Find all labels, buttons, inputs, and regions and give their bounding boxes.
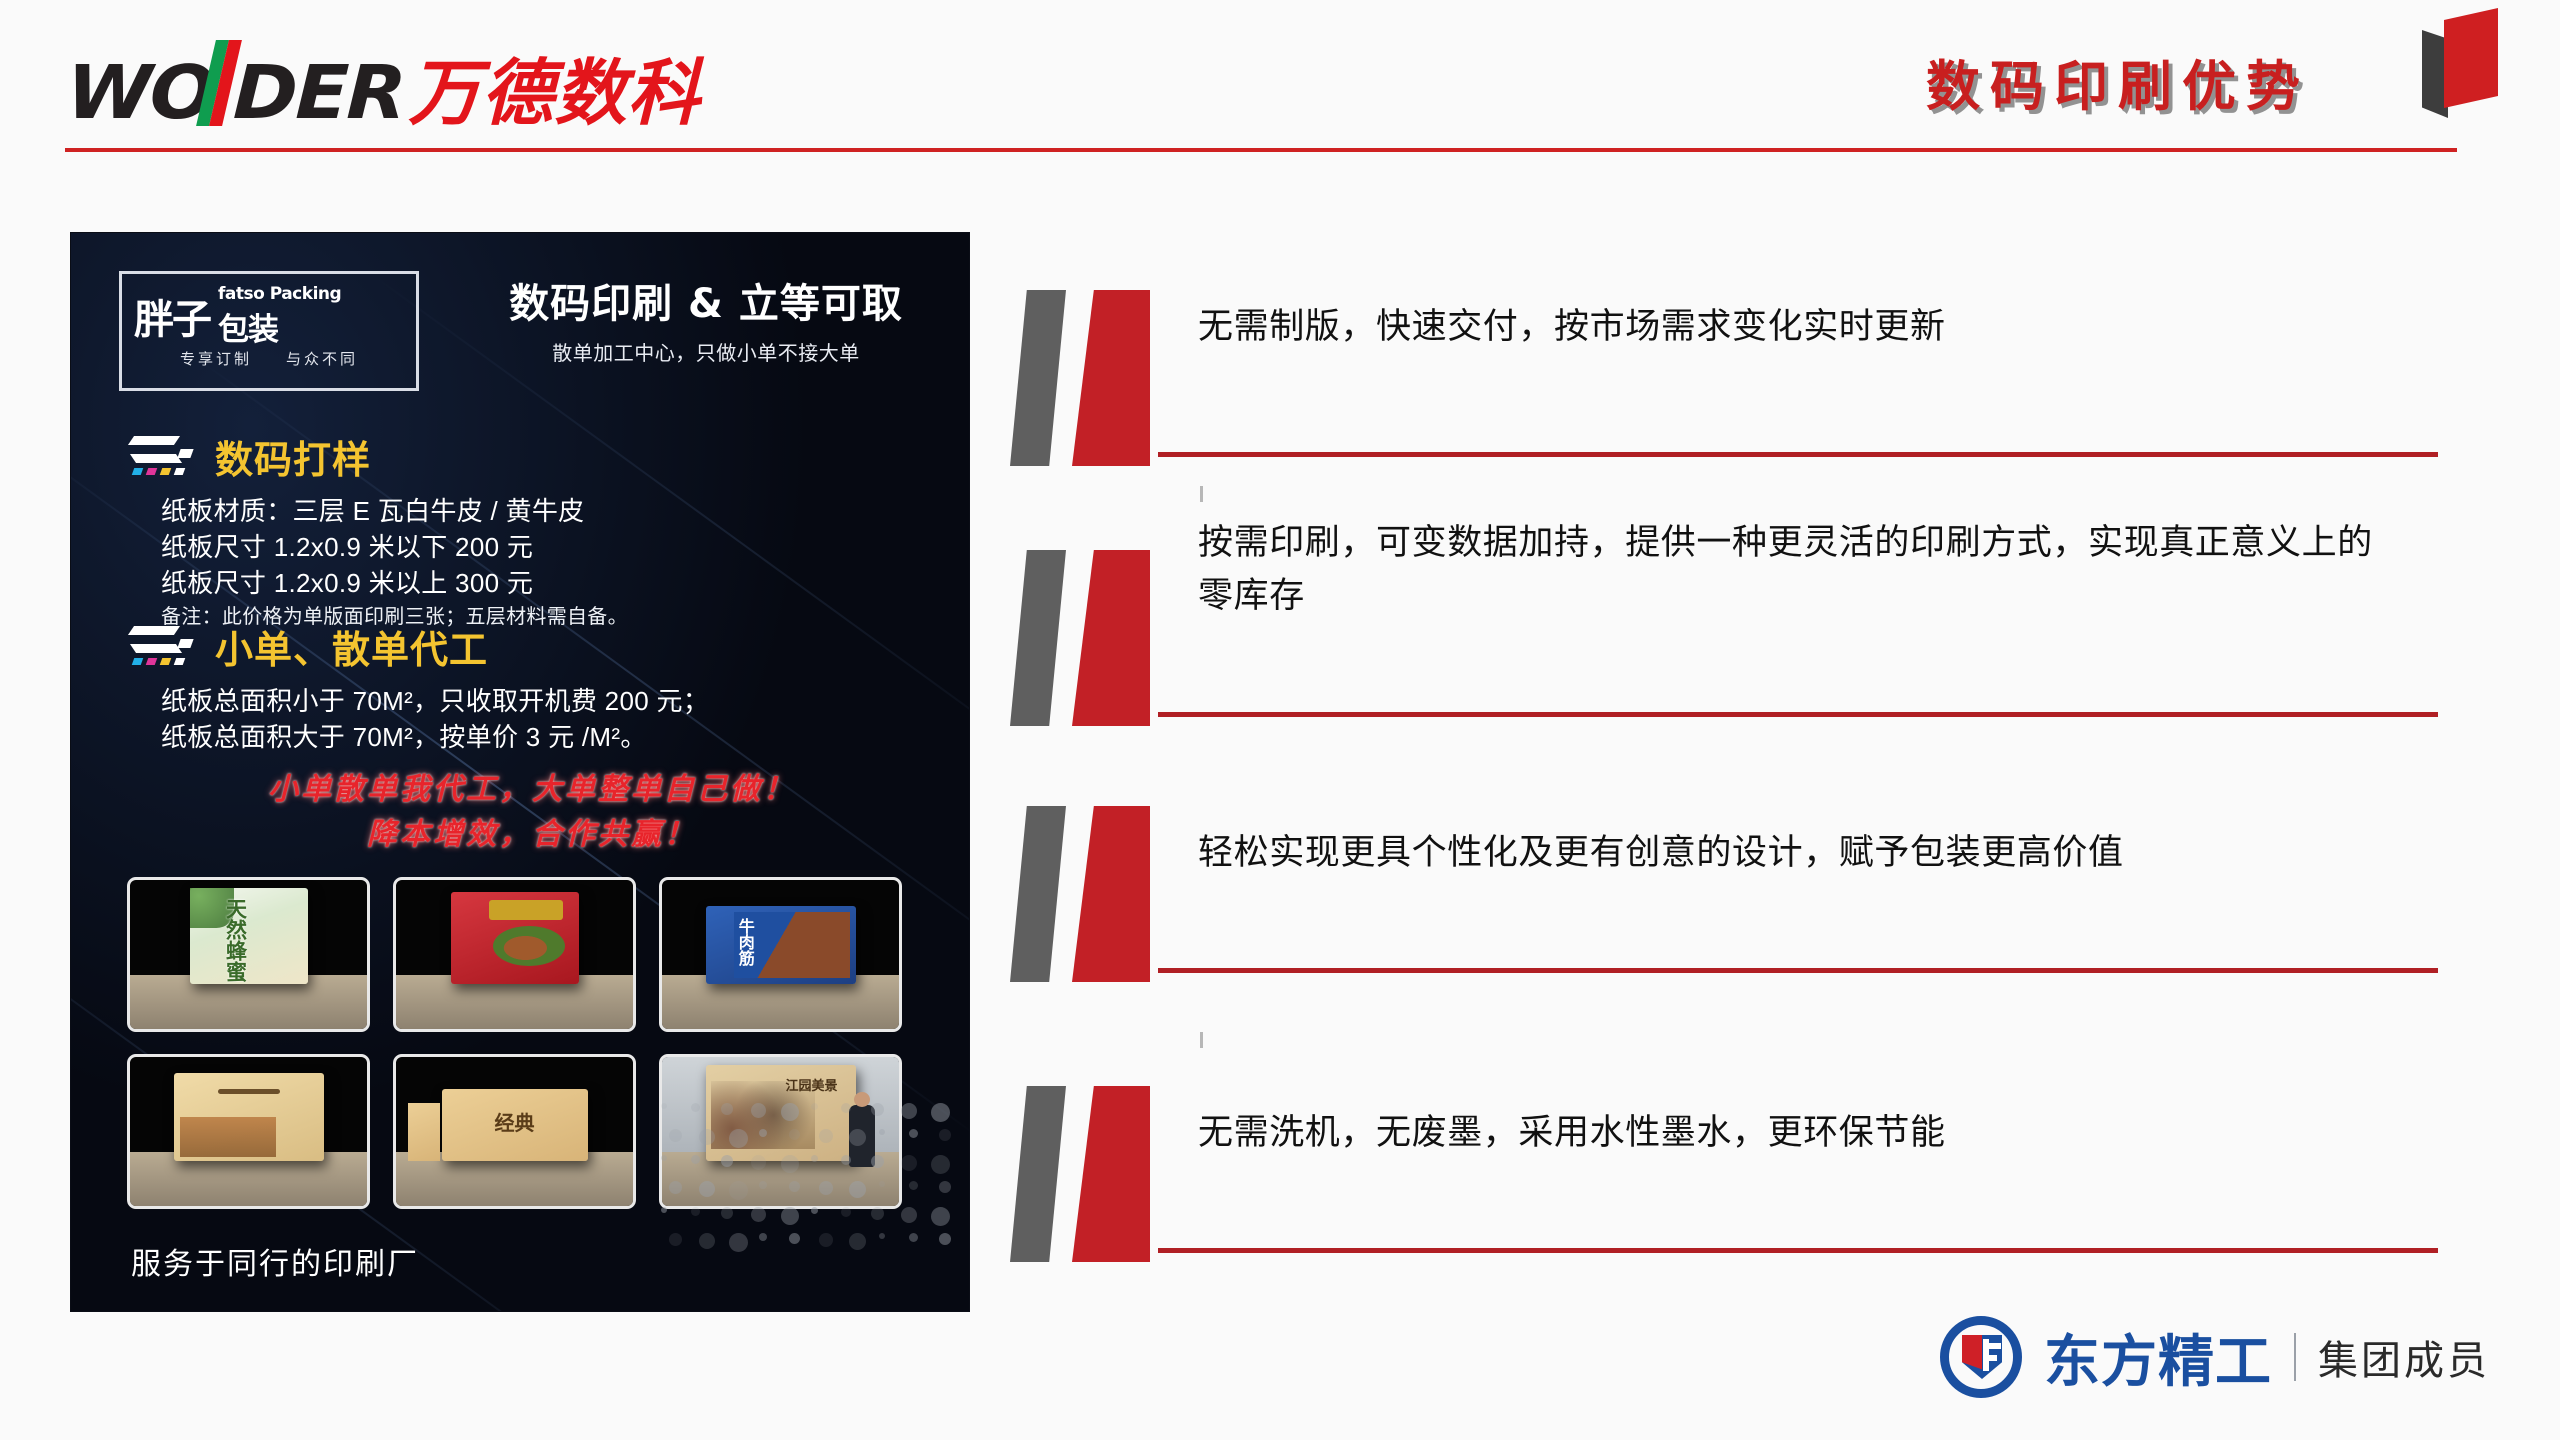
proofing-line-1: 纸板材质：三层 E 瓦白牛皮 / 黄牛皮	[161, 494, 937, 530]
beef-box-label: 牛肉筋	[738, 918, 753, 966]
chevron-arrow-icon	[127, 432, 201, 482]
fatso-logo-english: fatso Packing	[218, 284, 341, 304]
oem-line-1: 纸板总面积小于 70M²，只收取开机费 200 元；	[161, 684, 937, 720]
double-slash-marker-icon	[1010, 290, 1170, 466]
footer-company-name: 东方精工	[2044, 1317, 2272, 1398]
chevron-arrow-icon	[127, 622, 201, 672]
oem-line-2: 纸板总面积大于 70M²，按单价 3 元 /M²。	[161, 720, 937, 756]
poster-footer-text: 服务于同行的印刷厂	[131, 1239, 419, 1283]
slogan-line-2: 降本增效，合作共赢！	[127, 812, 937, 857]
corner-brand-mark-icon	[2422, 8, 2498, 118]
product-photo-red-meat-box	[393, 877, 636, 1032]
advantage-item-1: 无需制版，快速交付，按市场需求变化实时更新	[1010, 270, 2480, 502]
product-photo-blue-beef-box: 牛肉筋	[659, 877, 902, 1032]
page-title: 数码印刷优势	[1926, 42, 2310, 121]
wonder-logo-wordmark-right: DER	[232, 56, 406, 130]
promo-poster-image: 胖子 fatso Packing 包装 专享订制 与众不同 数码印刷 & 立等可…	[70, 232, 970, 1312]
wonder-logo-chinese: 万德数科	[409, 57, 701, 129]
section-title-small-order-oem: 小单、散单代工	[215, 619, 488, 674]
tick-mark	[1200, 486, 1203, 502]
fatso-tagline-left: 专享订制	[180, 348, 252, 369]
poster-headline: 数码印刷 & 立等可取	[491, 271, 921, 329]
wonder-logo: WO DER 万德数科	[65, 40, 701, 130]
classic-box-label: 经典	[495, 1107, 535, 1136]
product-photo-honey-gift-box: 天然蜂蜜	[127, 877, 370, 1032]
slogan-line-1: 小单散单我代工，大单整单自己做！	[127, 767, 937, 812]
product-photo-kraft-building-box	[127, 1054, 370, 1209]
advantage-item-2: 按需印刷，可变数据加持，提供一种更灵活的印刷方式，实现真正意义上的零库存	[1010, 502, 2480, 772]
advantage-text-4: 无需洗机，无废墨，采用水性墨水，更环保节能	[1198, 1106, 2373, 1159]
product-photo-kraft-classic-box: 经典	[393, 1054, 636, 1209]
footer-member-label: 集团成员	[2318, 1328, 2490, 1386]
section-title-digital-proofing: 数码打样	[215, 429, 371, 484]
advantage-text-1: 无需制版，快速交付，按市场需求变化实时更新	[1198, 300, 2373, 353]
double-slash-marker-icon	[1010, 550, 1170, 726]
slide-root: WO DER 万德数科 数码印刷优势 胖子 fatso Packing 包装 专…	[0, 0, 2560, 1440]
fatso-logo-sub: 包装	[218, 304, 341, 349]
fatso-tagline-right: 与众不同	[286, 348, 358, 369]
poster-subheadline: 散单加工中心，只做小单不接大单	[491, 337, 921, 366]
double-slash-marker-icon	[1010, 806, 1170, 982]
advantage-underline-1	[1158, 452, 2438, 457]
mural-box-label: 江园美景	[785, 1075, 837, 1094]
decorative-dot-pattern	[661, 1103, 961, 1253]
dongfang-precision-footer-logo: 东方精工 集团成员	[1940, 1316, 2490, 1398]
poster-headline-block: 数码印刷 & 立等可取 散单加工中心，只做小单不接大单	[491, 271, 921, 366]
advantage-item-3: 轻松实现更具个性化及更有创意的设计，赋予包装更高价值	[1010, 772, 2480, 1014]
tick-mark	[1200, 1032, 1203, 1048]
advantage-item-4: 无需洗机，无废墨，采用水性墨水，更环保节能	[1010, 1014, 2480, 1254]
advantages-list: 无需制版，快速交付，按市场需求变化实时更新 按需印刷，可变数据加持，提供一种更灵…	[1010, 270, 2480, 1254]
advantage-text-3: 轻松实现更具个性化及更有创意的设计，赋予包装更高价值	[1198, 826, 2373, 879]
fatso-logo-main: 胖子	[134, 287, 210, 345]
footer-divider	[2294, 1333, 2296, 1381]
proofing-line-2: 纸板尺寸 1.2x0.9 米以下 200 元	[161, 530, 937, 566]
proofing-line-3: 纸板尺寸 1.2x0.9 米以上 300 元	[161, 566, 937, 602]
double-slash-marker-icon	[1010, 1086, 1170, 1262]
wonder-logo-slash-icon	[206, 40, 232, 118]
advantage-text-2: 按需印刷，可变数据加持，提供一种更灵活的印刷方式，实现真正意义上的零库存	[1198, 516, 2373, 622]
poster-section-small-order-oem: 小单、散单代工 纸板总面积小于 70M²，只收取开机费 200 元； 纸板总面积…	[127, 619, 937, 756]
fatso-packing-logo: 胖子 fatso Packing 包装 专享订制 与众不同	[119, 271, 419, 391]
advantage-underline-4	[1158, 1248, 2438, 1253]
header-divider	[65, 148, 2457, 152]
advantage-underline-2	[1158, 712, 2438, 717]
advantage-underline-3	[1158, 968, 2438, 973]
poster-slogan: 小单散单我代工，大单整单自己做！ 降本增效，合作共赢！	[127, 767, 937, 857]
dongfang-emblem-icon	[1940, 1316, 2022, 1398]
wonder-logo-wordmark-left: WO	[65, 56, 215, 130]
poster-section-digital-proofing: 数码打样 纸板材质：三层 E 瓦白牛皮 / 黄牛皮 纸板尺寸 1.2x0.9 米…	[127, 429, 937, 631]
slide-header: WO DER 万德数科 数码印刷优势	[0, 0, 2560, 175]
honey-box-label: 天然蜂蜜	[226, 898, 246, 982]
